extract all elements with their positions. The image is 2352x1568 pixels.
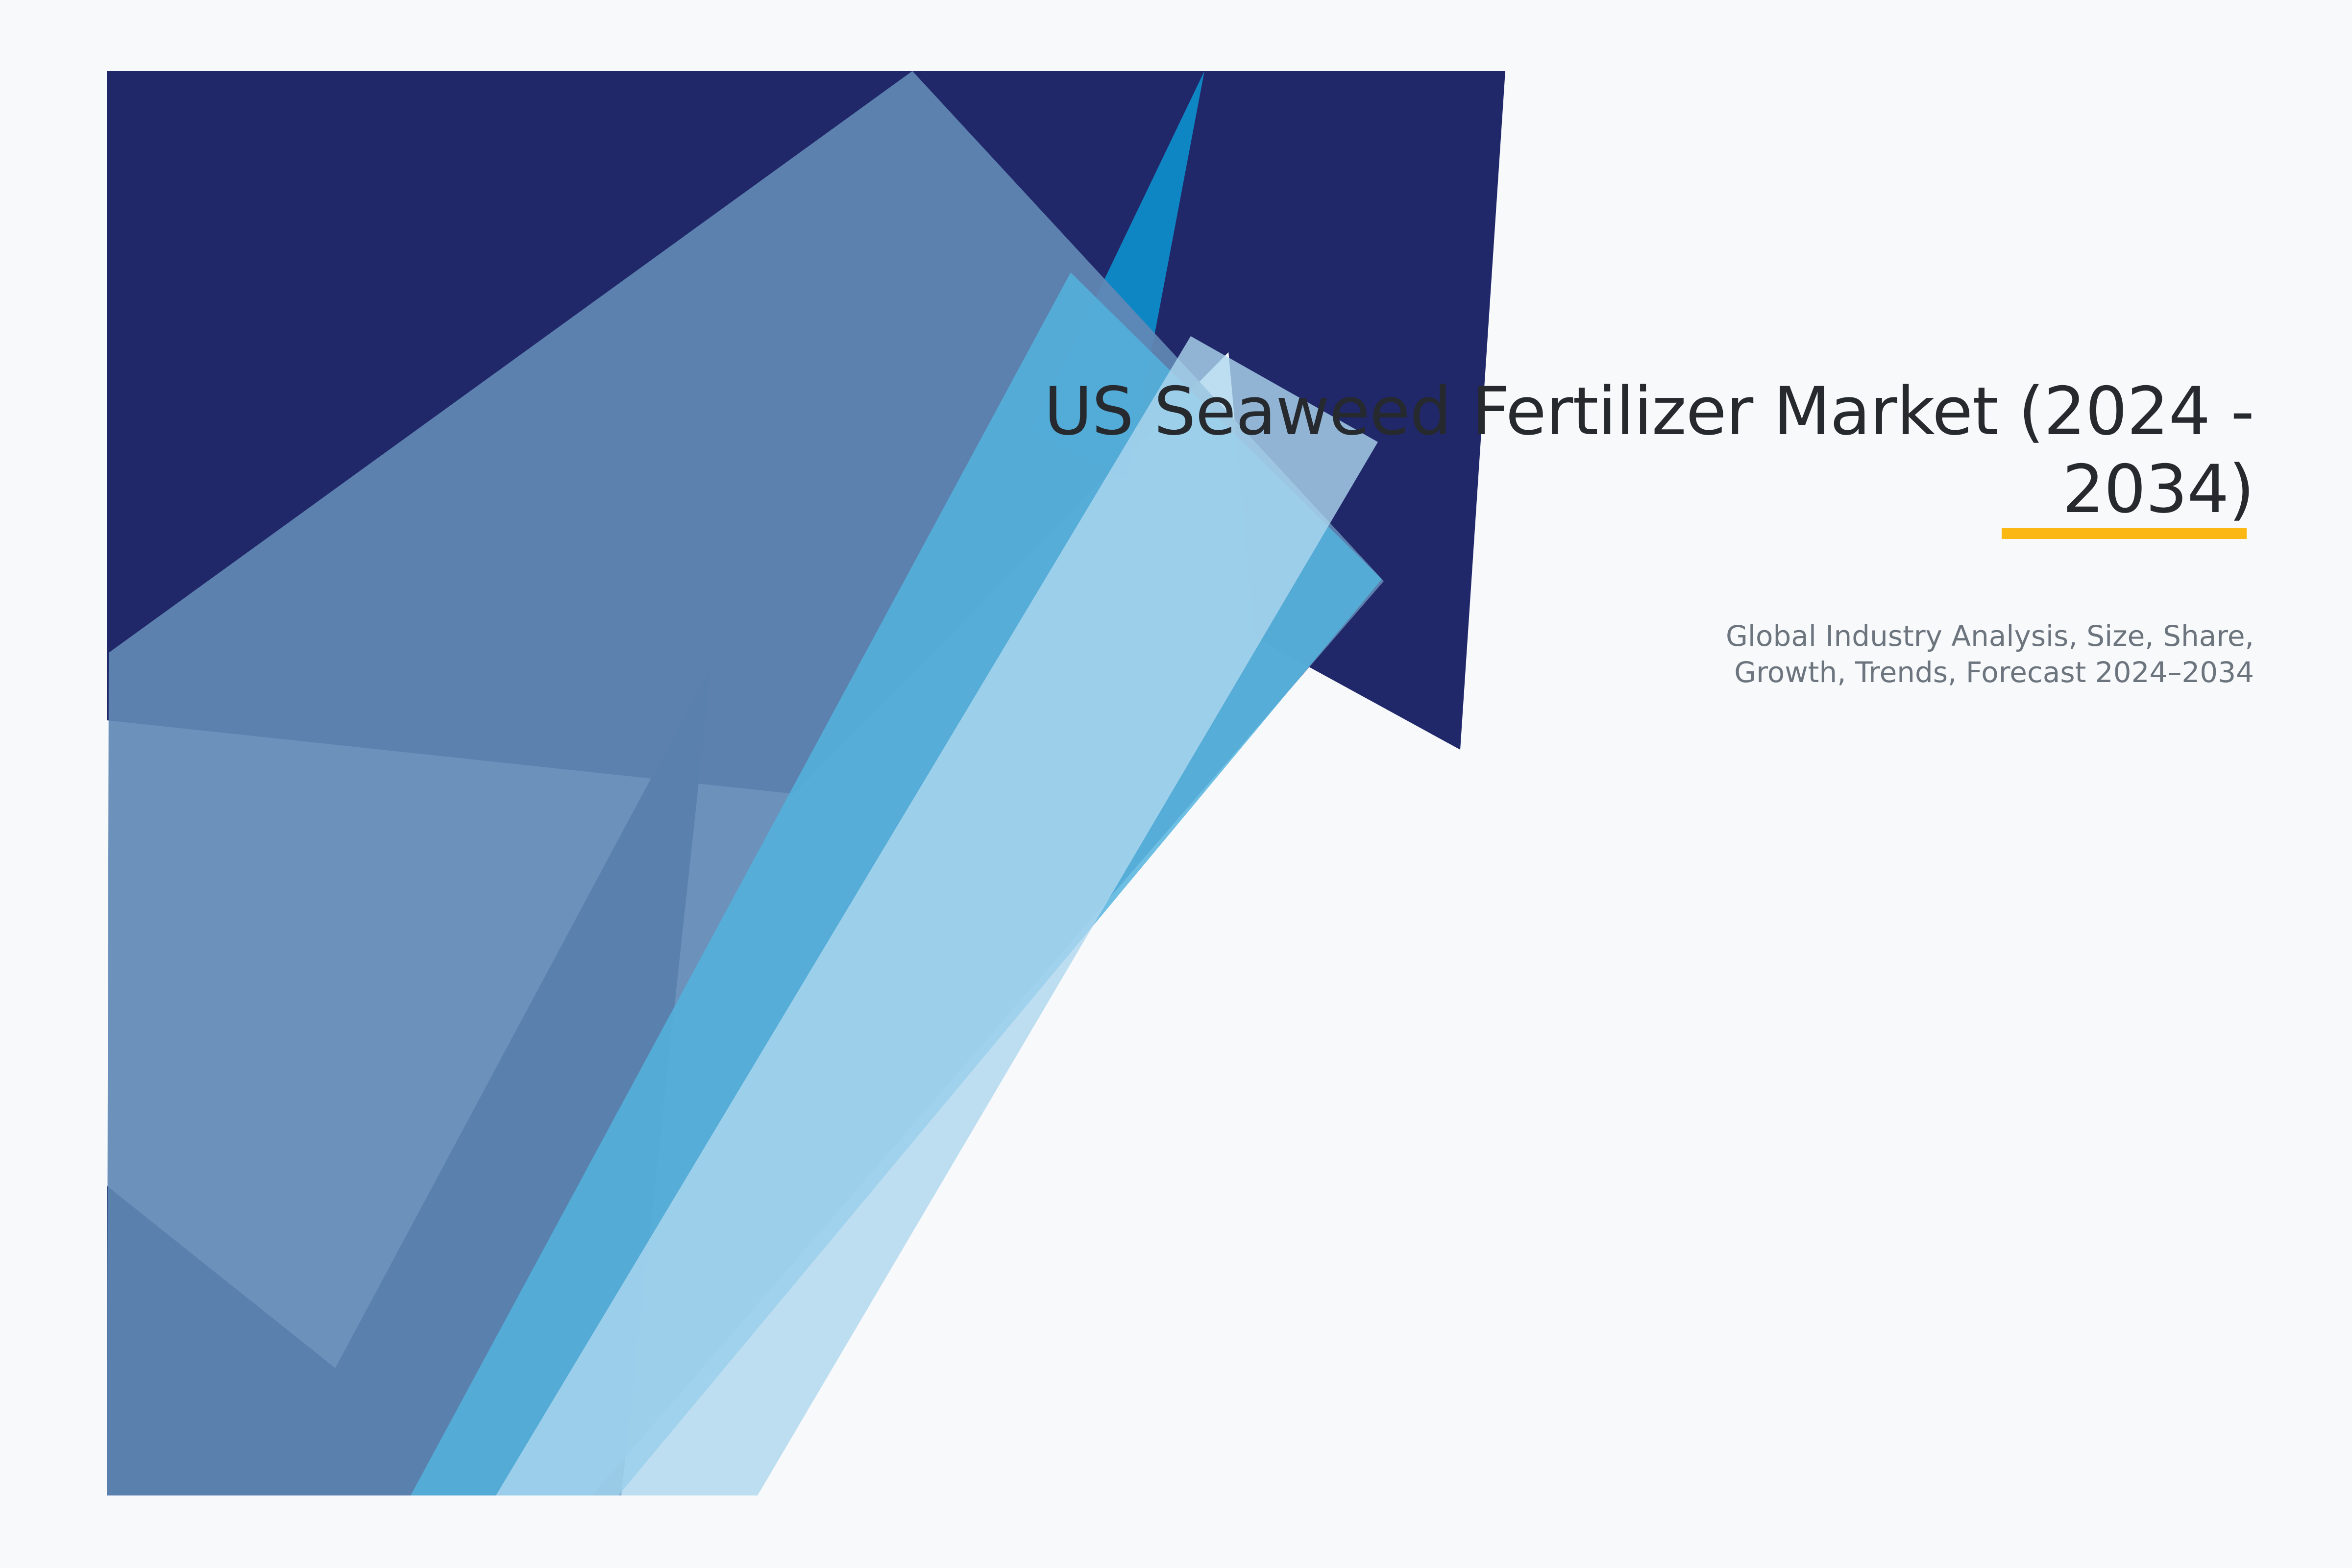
page-title: US Seaweed Fertilizer Market (2024 - 203… <box>833 372 2254 529</box>
title-wrapper: US Seaweed Fertilizer Market (2024 - 203… <box>833 372 2254 529</box>
cover-text-block: US Seaweed Fertilizer Market (2024 - 203… <box>833 372 2254 690</box>
cover-slide: US Seaweed Fertilizer Market (2024 - 203… <box>0 0 2352 1568</box>
page-subtitle: Global Industry Analysis, Size, Share, G… <box>1676 529 2254 690</box>
abstract-geometric-artwork <box>0 0 2352 1568</box>
amber-underline-bar <box>2002 528 2247 539</box>
